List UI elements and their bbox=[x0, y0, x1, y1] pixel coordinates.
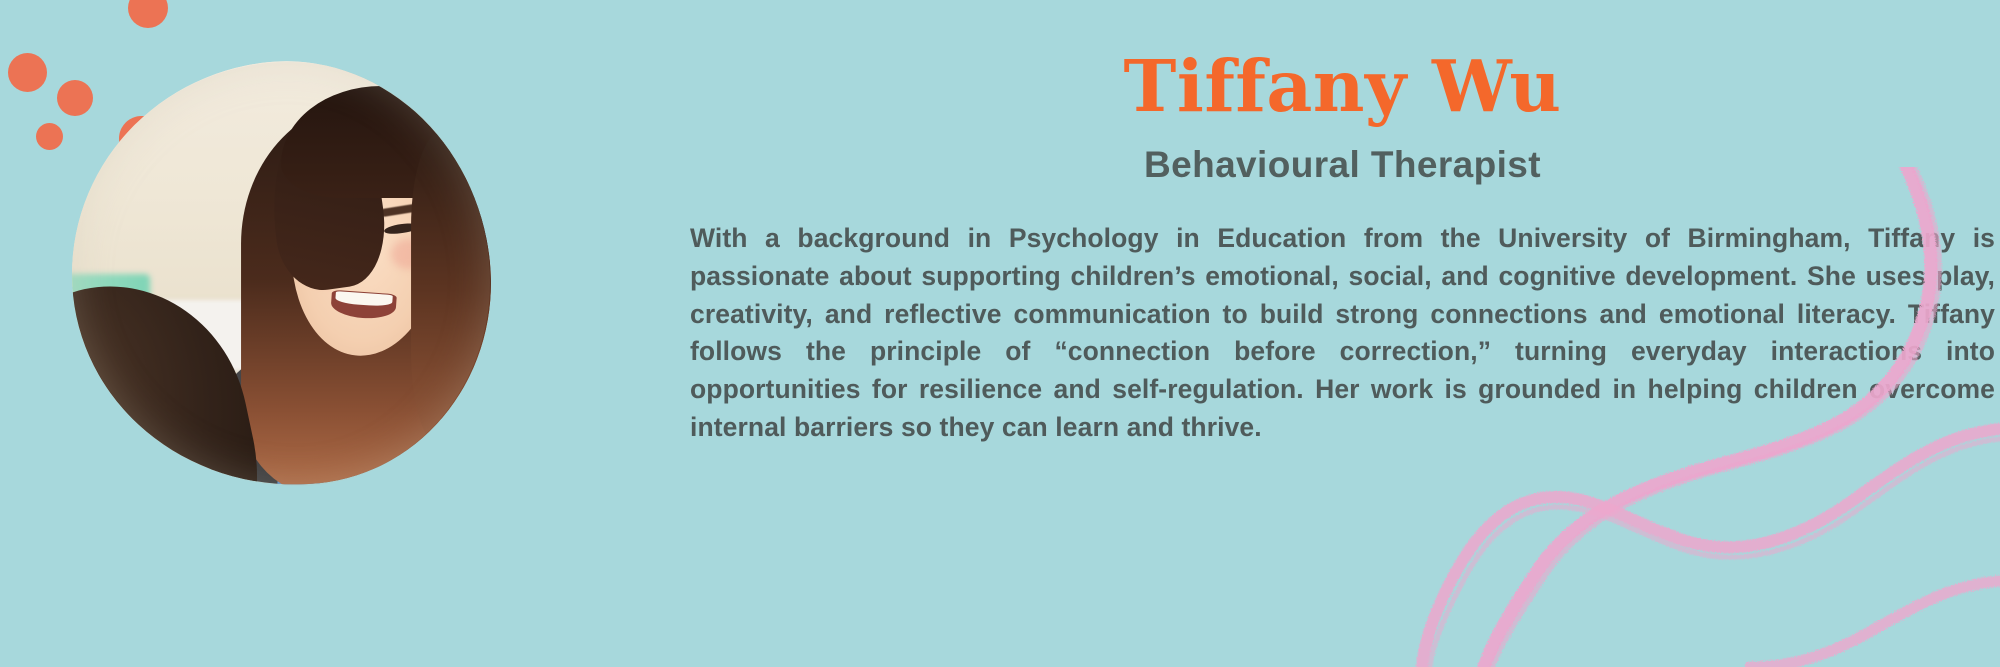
profile-card: Tiffany Wu Behavioural Therapist With a … bbox=[0, 0, 2000, 667]
decorative-dot bbox=[128, 0, 168, 28]
decorative-dot bbox=[8, 53, 47, 92]
profile-photo bbox=[72, 62, 490, 486]
biography-text: With a background in Psychology in Educa… bbox=[690, 220, 1995, 446]
profile-text-column: Tiffany Wu Behavioural Therapist With a … bbox=[690, 50, 1995, 446]
photo-blob-mask bbox=[51, 41, 511, 506]
photo-artwork bbox=[51, 41, 511, 506]
job-title: Behavioural Therapist bbox=[690, 144, 1995, 186]
page-title: Tiffany Wu bbox=[690, 50, 1995, 122]
